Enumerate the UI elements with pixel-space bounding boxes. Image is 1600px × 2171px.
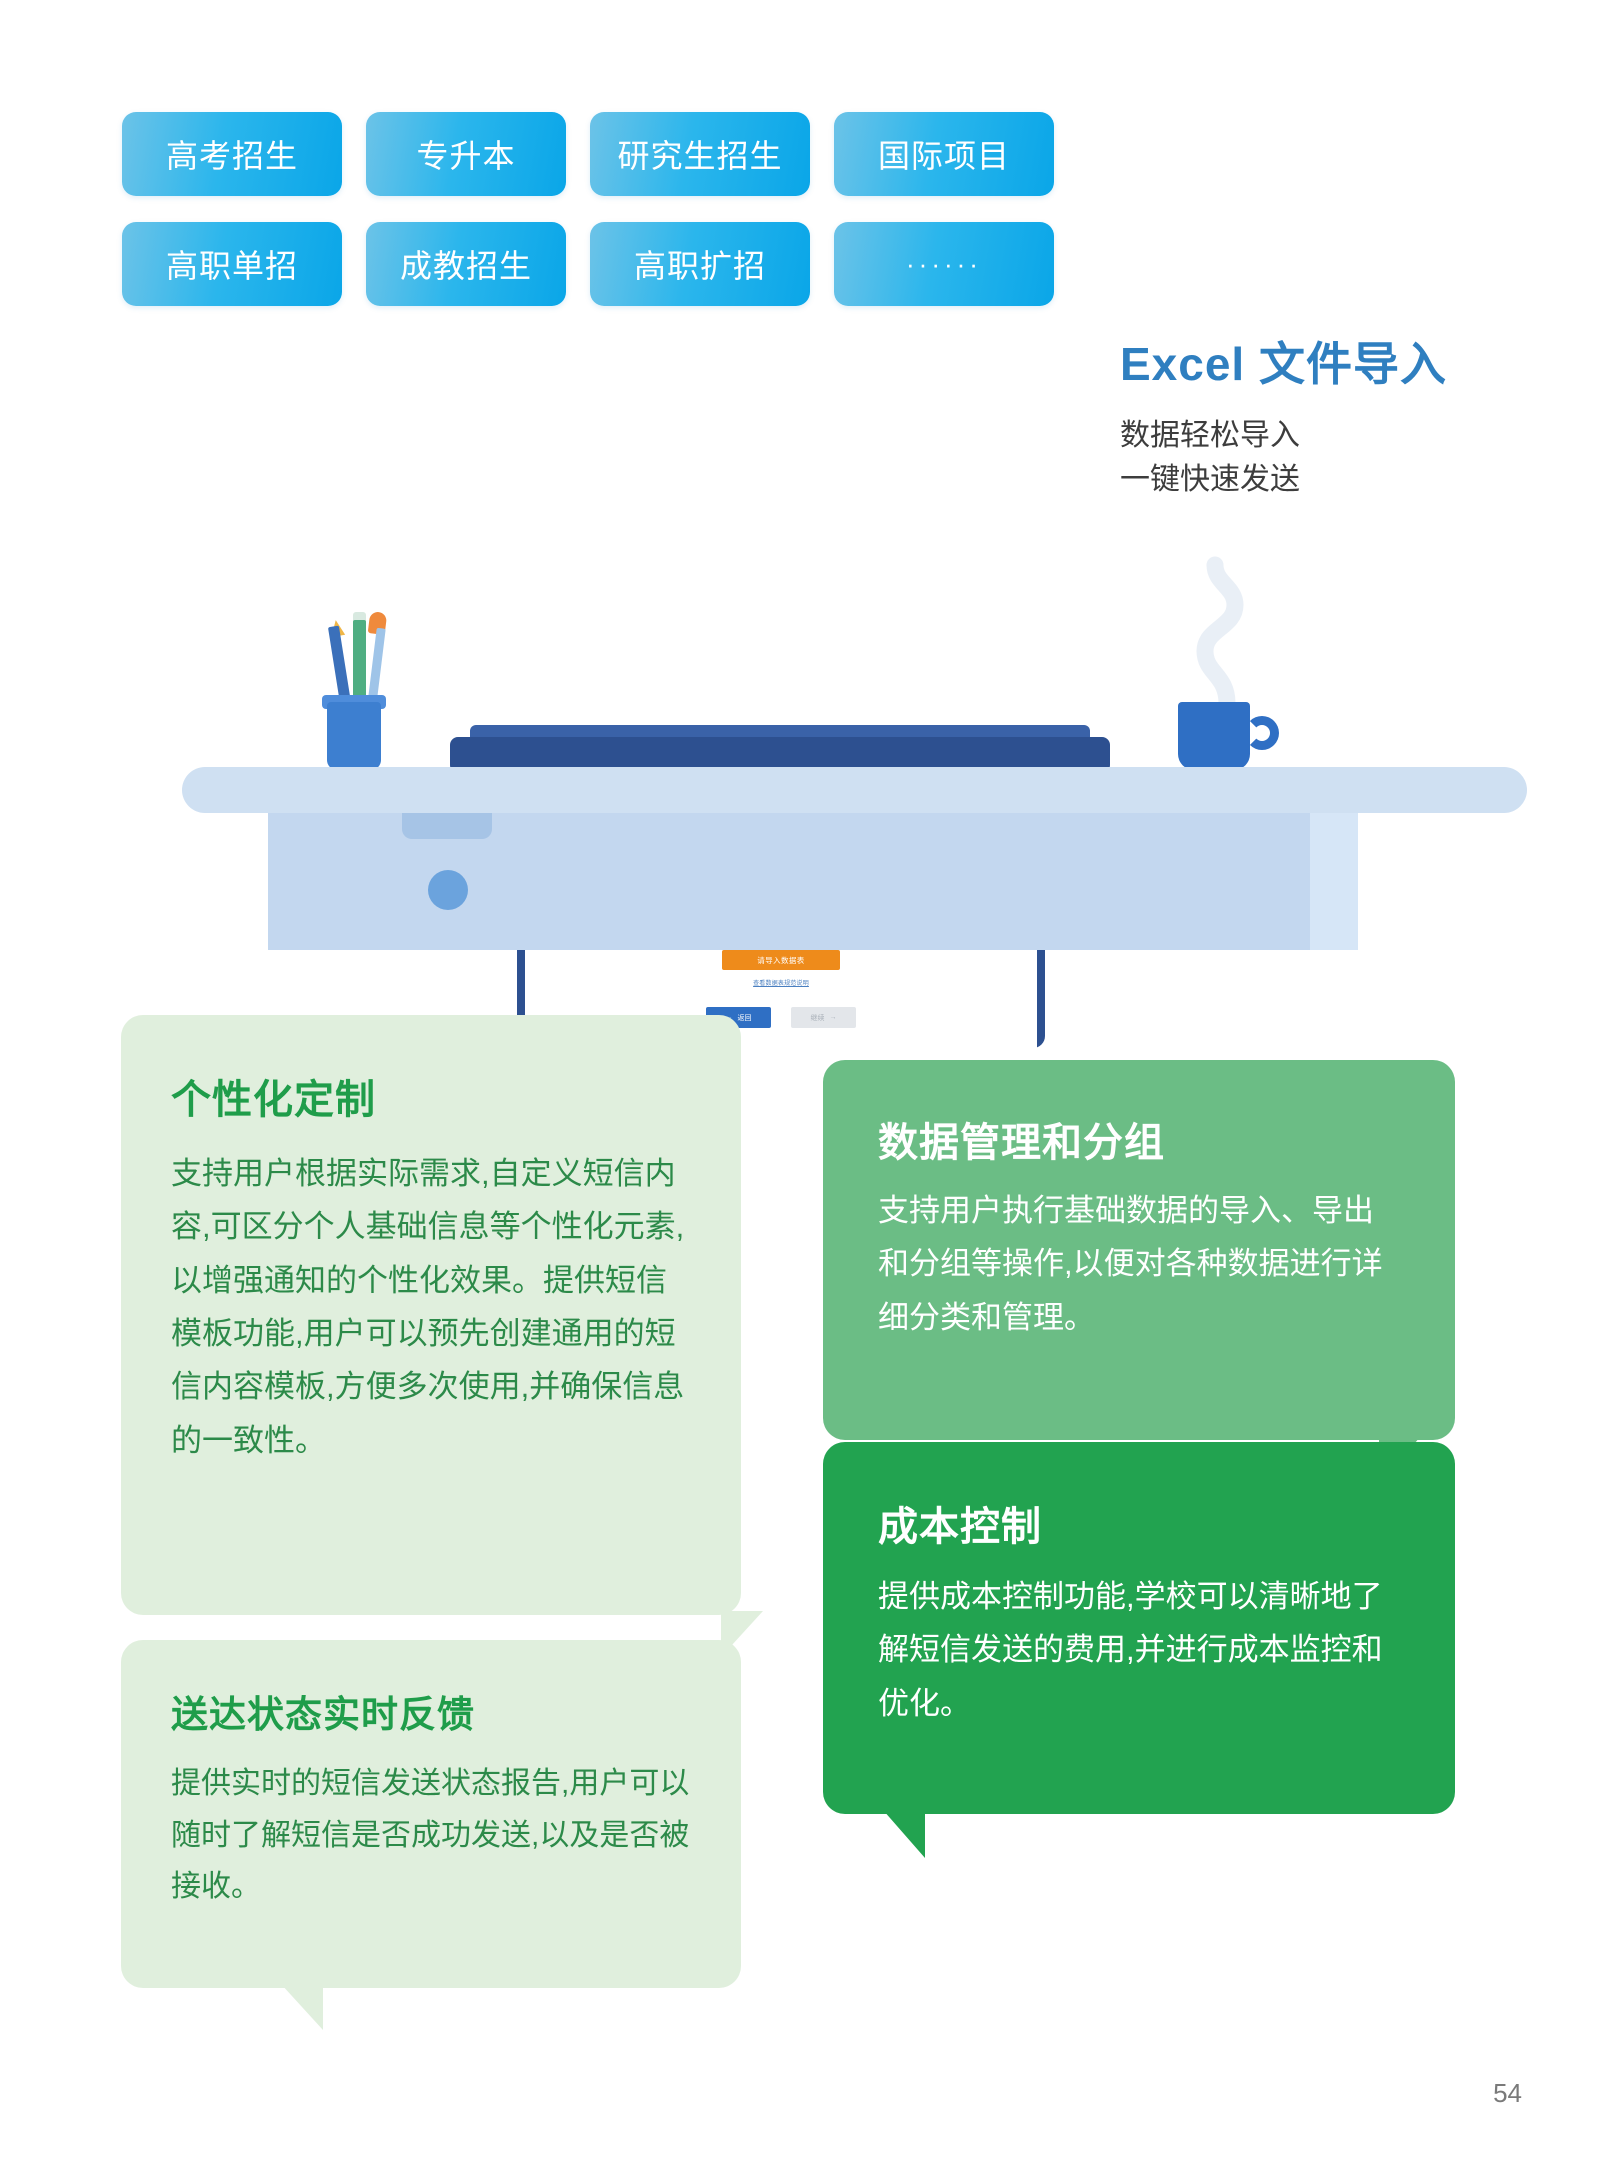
feature-card-delivery-status: 送达状态实时反馈 提供实时的短信发送状态报告,用户可以随时了解短信是否成功发送,… bbox=[121, 1640, 741, 1988]
tag-zhuanshengben[interactable]: 专升本 bbox=[366, 112, 566, 196]
feature-title-delivery-status: 送达状态实时反馈 bbox=[171, 1684, 741, 1738]
tag-row-2: 高职单招 成教招生 高职扩招 ······ bbox=[122, 222, 1062, 306]
page-number: 54 bbox=[1493, 2078, 1522, 2109]
tag-more-ellipsis[interactable]: ······ bbox=[834, 222, 1054, 306]
feature-body-cost-control: 提供成本控制功能,学校可以清晰地了解短信发送的费用,并进行成本监控和优化。 bbox=[878, 1570, 1403, 1730]
category-tag-grid: 高考招生 专升本 研究生招生 国际项目 高职单招 成教招生 高职扩招 ·····… bbox=[122, 112, 1062, 332]
pen-holder bbox=[327, 702, 381, 770]
desk-illustration: 安云信 | 高校短信通知系统 – ✕ 您的当前位置: 发送 bbox=[0, 380, 1600, 960]
feature-body-personalization: 支持用户根据实际需求,自定义短信内容,可区分个人基础信息等个性化元素,以增强通知… bbox=[171, 1147, 691, 1467]
tag-row-1: 高考招生 专升本 研究生招生 国际项目 bbox=[122, 112, 1062, 196]
arrow-right-icon-next: → bbox=[830, 1014, 837, 1021]
feature-title-personalization: 个性化定制 bbox=[171, 1067, 741, 1125]
desk-knob bbox=[428, 870, 468, 910]
desk-top bbox=[182, 767, 1527, 813]
bubble-tail bbox=[281, 1984, 323, 2030]
feature-body-delivery-status: 提供实时的短信发送状态报告,用户可以随时了解短信是否成功发送,以及是否被接收。 bbox=[171, 1758, 691, 1913]
feature-title-cost-control: 成本控制 bbox=[878, 1494, 1455, 1552]
pencil-icon bbox=[328, 626, 351, 705]
feature-title-data-management: 数据管理和分组 bbox=[878, 1110, 1455, 1168]
feature-body-data-management: 支持用户执行基础数据的导入、导出和分组等操作,以便对各种数据进行详细分类和管理。 bbox=[878, 1184, 1403, 1344]
next-button-label: 继续 bbox=[811, 1013, 825, 1023]
tag-gaozhi-kuozhao[interactable]: 高职扩招 bbox=[590, 222, 810, 306]
back-button-label: 返回 bbox=[738, 1013, 752, 1023]
tag-guoji-xiangmu[interactable]: 国际项目 bbox=[834, 112, 1054, 196]
mug-handle bbox=[1245, 716, 1279, 750]
feature-card-personalization: 个性化定制 支持用户根据实际需求,自定义短信内容,可区分个人基础信息等个性化元素… bbox=[121, 1015, 741, 1615]
tag-gaokao-zhaosheng[interactable]: 高考招生 bbox=[122, 112, 342, 196]
steam-icon bbox=[1165, 555, 1265, 705]
marker-icon bbox=[353, 620, 366, 706]
tag-yanjiusheng-zhaosheng[interactable]: 研究生招生 bbox=[590, 112, 810, 196]
desk-leg-right bbox=[1310, 805, 1358, 950]
bubble-tail bbox=[883, 1810, 925, 1858]
coffee-mug bbox=[1178, 702, 1250, 770]
tag-gaozhi-danzhao[interactable]: 高职单招 bbox=[122, 222, 342, 306]
import-data-button[interactable]: 请导入数据表 bbox=[722, 950, 840, 970]
feature-card-cost-control: 成本控制 提供成本控制功能,学校可以清晰地了解短信发送的费用,并进行成本监控和优… bbox=[823, 1442, 1455, 1814]
tag-chengjiao-zhaosheng[interactable]: 成教招生 bbox=[366, 222, 566, 306]
next-button[interactable]: 继续 → bbox=[791, 1007, 856, 1028]
feature-card-data-management: 数据管理和分组 支持用户执行基础数据的导入、导出和分组等操作,以便对各种数据进行… bbox=[823, 1060, 1455, 1440]
data-spec-link[interactable]: 查看数据表规范说明 bbox=[753, 978, 809, 987]
